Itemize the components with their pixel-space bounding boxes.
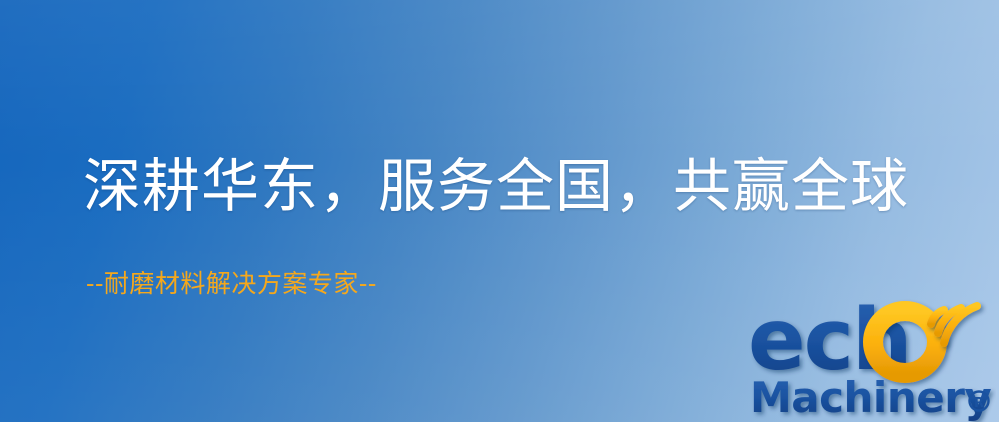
svg-text:R: R (974, 396, 984, 411)
page-subtitle: --耐磨材料解决方案专家-- (86, 268, 377, 300)
svg-text:Machinery: Machinery (750, 373, 991, 422)
echo-machinery-logo-svg: ech Machinery R (748, 296, 996, 422)
logo-wordmark-machinery: Machinery (750, 373, 991, 422)
company-logo[interactable]: ech Machinery R (748, 296, 996, 422)
page-title: 深耕华东，服务全国，共赢全球 (83, 152, 909, 220)
hero-banner: 深耕华东，服务全国，共赢全球 --耐磨材料解决方案专家-- (0, 0, 999, 422)
